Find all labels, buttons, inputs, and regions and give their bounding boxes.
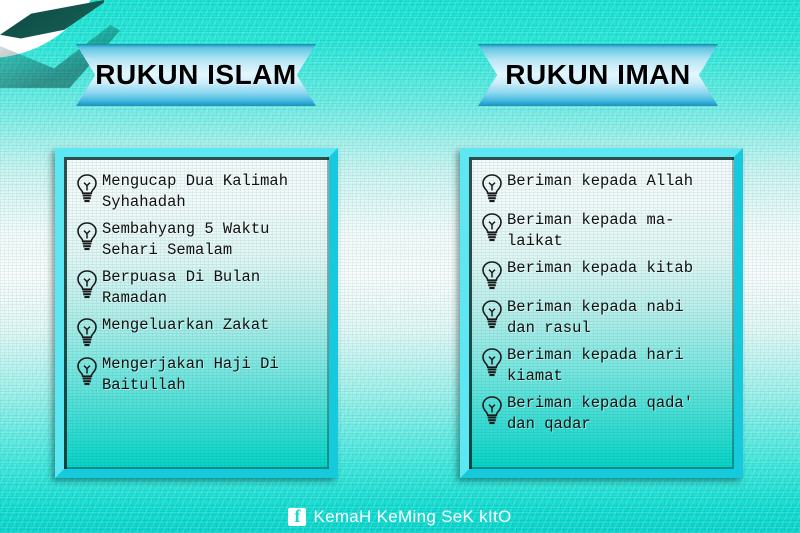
list-item: Sembahyang 5 Waktu Sehari Semalam [74,219,319,261]
lightbulb-icon [479,346,505,378]
banner-label-rukun-iman: RUKUN IMAN [478,44,718,106]
lightbulb-icon [479,211,505,243]
list-item-label: Berpuasa Di Bulan Ramadan [102,267,260,309]
slide-canvas: RUKUN ISLAM RUKUN IMAN [0,0,800,533]
list-item: Beriman kepada kitab [479,258,724,291]
lightbulb-icon [74,355,100,387]
list-item: Beriman kepada hari kiamat [479,345,724,387]
lightbulb-icon [479,394,505,426]
panel-rukun-islam: Mengucap Dua Kalimah Syhahadah Sembahyan… [55,148,338,478]
list-item: Beriman kepada Allah [479,171,724,204]
list-item: Beriman kepada qada' dan qadar [479,393,724,435]
list-item-label: Mengeluarkan Zakat [102,315,269,336]
list-item-label: Beriman kepada ma- laikat [507,210,674,252]
panel-content-right: Beriman kepada Allah Beriman kepada ma- … [469,157,734,469]
lightbulb-icon [74,268,100,300]
list-item: Mengerjakan Haji Di Baitullah [74,354,319,396]
lightbulb-icon [74,172,100,204]
banner-rukun-islam: RUKUN ISLAM [76,44,316,106]
list-item-label: Mengucap Dua Kalimah Syhahadah [102,171,288,213]
footer-credit: KemaH KeMing SeK kItO [0,507,800,527]
list-item: Mengucap Dua Kalimah Syhahadah [74,171,319,213]
lightbulb-icon [479,172,505,204]
list-item: Beriman kepada ma- laikat [479,210,724,252]
facebook-icon[interactable] [288,508,306,526]
banner-label-rukun-islam: RUKUN ISLAM [76,44,316,106]
bullet-list-rukun-islam: Mengucap Dua Kalimah Syhahadah Sembahyan… [74,171,319,396]
lightbulb-icon [74,220,100,252]
lightbulb-icon [74,316,100,348]
list-item-label: Beriman kepada kitab [507,258,693,279]
list-item-label: Beriman kepada nabi dan rasul [507,297,684,339]
bullet-list-rukun-iman: Beriman kepada Allah Beriman kepada ma- … [479,171,724,435]
banner-rukun-iman: RUKUN IMAN [478,44,718,106]
lightbulb-icon [479,259,505,291]
list-item-label: Beriman kepada hari kiamat [507,345,684,387]
list-item-label: Sembahyang 5 Waktu Sehari Semalam [102,219,269,261]
footer-credit-label: KemaH KeMing SeK kItO [313,507,511,527]
list-item-label: Beriman kepada qada' dan qadar [507,393,693,435]
list-item: Berpuasa Di Bulan Ramadan [74,267,319,309]
list-item-label: Beriman kepada Allah [507,171,693,192]
list-item-label: Mengerjakan Haji Di Baitullah [102,354,279,396]
list-item: Mengeluarkan Zakat [74,315,319,348]
list-item: Beriman kepada nabi dan rasul [479,297,724,339]
panel-rukun-iman: Beriman kepada Allah Beriman kepada ma- … [460,148,743,478]
panel-content-left: Mengucap Dua Kalimah Syhahadah Sembahyan… [64,157,329,469]
lightbulb-icon [479,298,505,330]
